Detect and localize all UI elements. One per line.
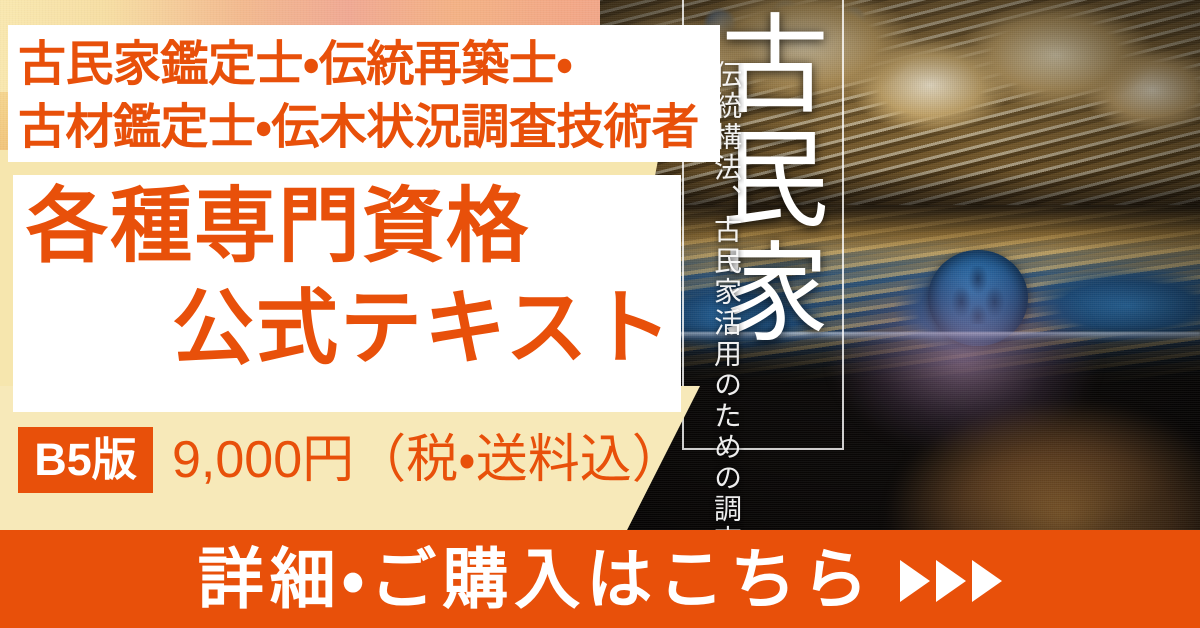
play-arrow-icon (936, 560, 966, 602)
main-title-line-1: 各種専門資格 (26, 186, 530, 268)
format-badge: B5版 (18, 427, 153, 493)
heading-line-1: 古民家鑑定士・伝統再築士・ (18, 33, 718, 96)
cta-arrows (900, 560, 1002, 602)
cta-bar[interactable]: 詳細・ご購入はこちら (0, 530, 1200, 628)
promo-banner: 古民家 伝統構法、古民家活用のための調査と再生の 古民家鑑定士・伝統再築士・ 古… (0, 0, 1200, 628)
heading-line-2: 古材鑑定士・伝木状況調査技術者 (18, 96, 718, 159)
cta-label: 詳細・ご購入はこちら (198, 546, 874, 612)
qualifications-heading: 古民家鑑定士・伝統再築士・ 古材鑑定士・伝木状況調査技術者 (18, 33, 718, 160)
cta-content: 詳細・ご購入はこちら (0, 530, 1200, 628)
main-title-line-2: 公式テキスト (172, 288, 674, 370)
play-arrow-icon (972, 560, 1002, 602)
price-text: 9,000円（税・送料込） (172, 428, 684, 492)
play-arrow-icon (900, 560, 930, 602)
